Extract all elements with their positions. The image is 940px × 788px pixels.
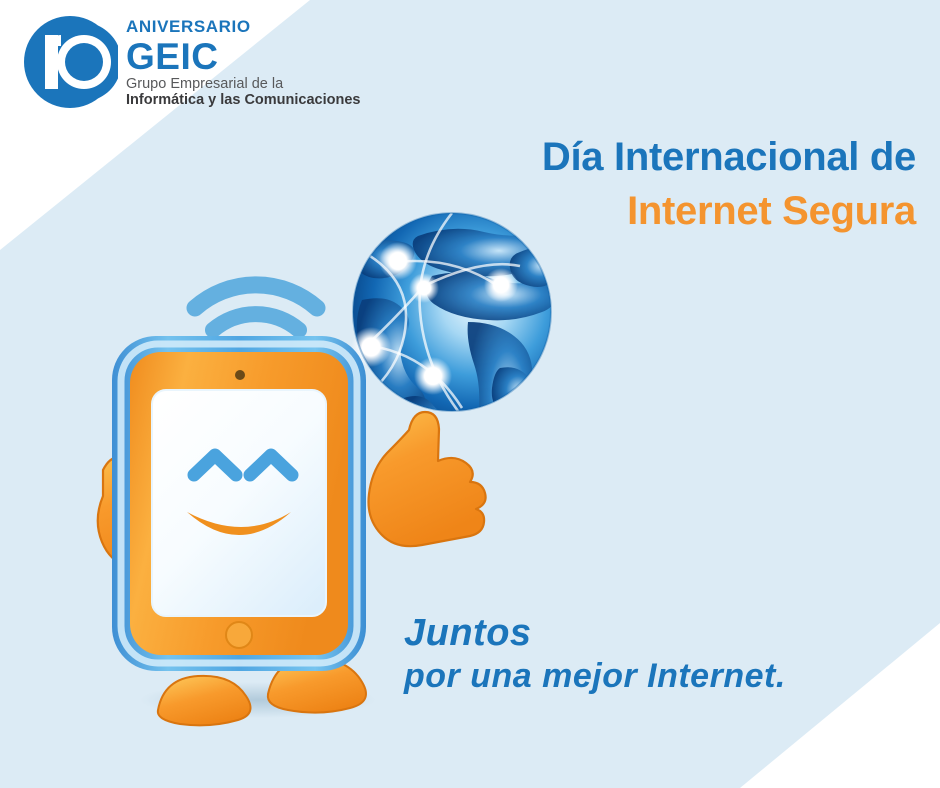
mascot-right-hand-thumbs-up-icon — [369, 412, 486, 546]
headline: Día Internacional de Internet Segura — [542, 134, 916, 235]
camera-dot-icon — [235, 370, 245, 380]
globe-icon — [351, 213, 560, 480]
logo-text-block: ANIVERSARIO GEIC Grupo Empresarial de la… — [126, 18, 361, 108]
mascot-screen — [152, 390, 326, 616]
smartphone-mascot-body — [112, 336, 366, 671]
tagline: Juntos por una mejor Internet. — [404, 612, 786, 695]
home-button-icon — [226, 622, 252, 648]
anniversary-10-circle-icon — [22, 14, 118, 110]
logo-subtitle-line2: Informática y las Comunicaciones — [126, 92, 361, 108]
headline-line-1: Día Internacional de — [542, 134, 916, 180]
headline-line-2: Internet Segura — [542, 188, 916, 234]
logo-subtitle-line1: Grupo Empresarial de la — [126, 76, 361, 92]
logo-aniversario: ANIVERSARIO — [126, 18, 361, 35]
logo-brand: GEIC — [126, 38, 361, 75]
poster-canvas: ANIVERSARIO GEIC Grupo Empresarial de la… — [0, 0, 940, 788]
tagline-line-1: Juntos — [404, 612, 786, 655]
tagline-line-2: por una mejor Internet. — [404, 657, 786, 695]
geic-anniversary-logo: ANIVERSARIO GEIC Grupo Empresarial de la… — [22, 14, 362, 119]
